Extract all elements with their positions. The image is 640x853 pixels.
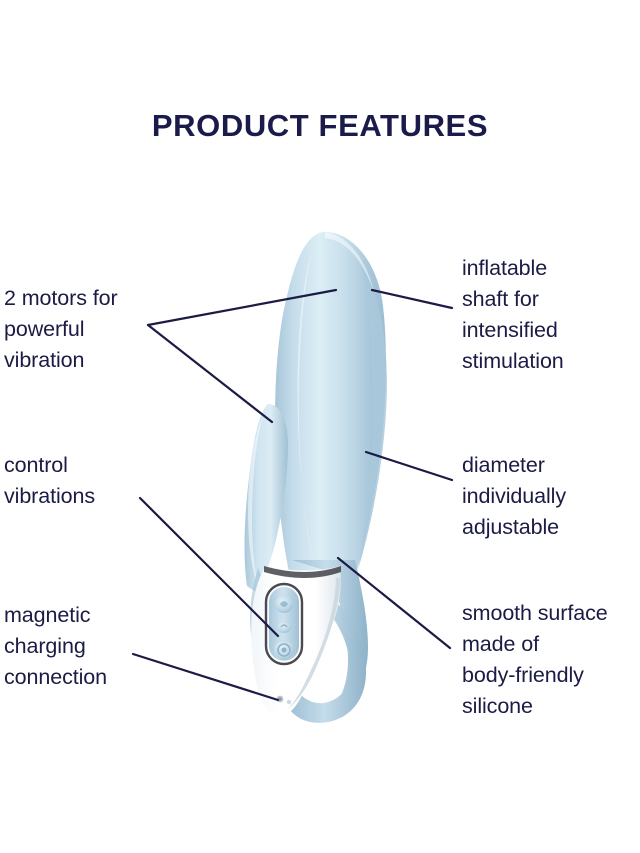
leader-motors-shaft bbox=[148, 290, 336, 325]
leader-smooth bbox=[338, 558, 450, 648]
leader-magnetic bbox=[133, 654, 278, 700]
feature-diagram: PRODUCT FEATURES bbox=[0, 0, 640, 853]
leader-control bbox=[140, 498, 278, 636]
leader-inflatable bbox=[372, 290, 452, 308]
leader-motors-arm bbox=[148, 325, 272, 422]
leader-diameter bbox=[366, 452, 452, 480]
leader-lines bbox=[0, 0, 640, 853]
